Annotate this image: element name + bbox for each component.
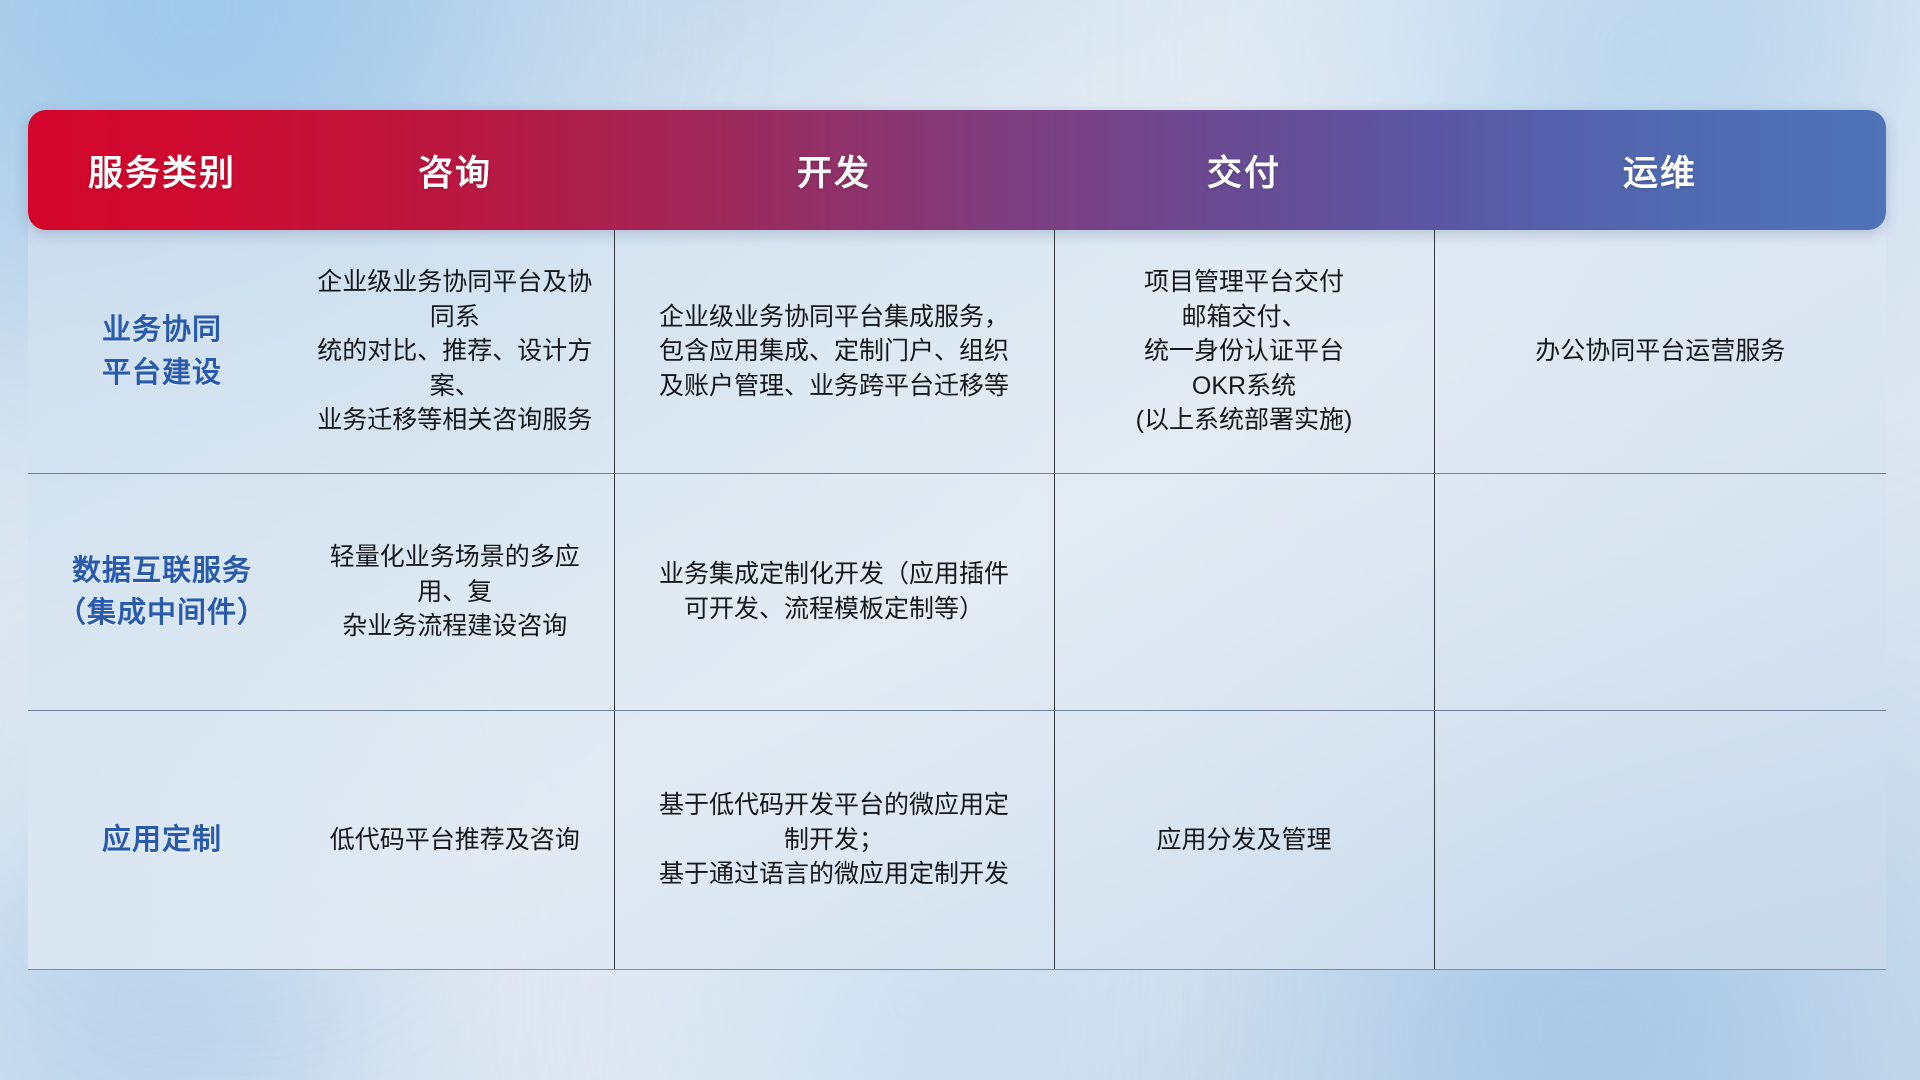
cell-operations: 办公协同平台运营服务 xyxy=(1434,230,1886,474)
cell-development: 业务集成定制化开发（应用插件 可开发、流程模板定制等） xyxy=(614,474,1054,711)
cell-text: 项目管理平台交付 邮箱交付、 统一身份认证平台 OKR系统 (以上系统部署实施) xyxy=(1069,265,1420,438)
cell-text: 企业级业务协同平台集成服务， 包含应用集成、定制门户、组织 及账户管理、业务跨平… xyxy=(629,300,1040,404)
cell-text: 轻量化业务场景的多应用、复 杂业务流程建设咨询 xyxy=(310,540,600,644)
cell-text: 企业级业务协同平台及协同系 统的对比、推荐、设计方案、 业务迁移等相关咨询服务 xyxy=(310,265,600,438)
column-header-service-category[interactable]: 服务类别 xyxy=(28,110,296,230)
cell-development: 基于低代码开发平台的微应用定 制开发； 基于通过语言的微应用定制开发 xyxy=(614,710,1054,969)
cell-consulting: 轻量化业务场景的多应用、复 杂业务流程建设咨询 xyxy=(296,474,614,711)
column-header-label: 交付 xyxy=(1207,145,1281,196)
row-category-label: 数据互联服务 （集成中间件） xyxy=(28,474,296,711)
table-row[interactable]: 应用定制 低代码平台推荐及咨询 基于低代码开发平台的微应用定 制开发； 基于通过… xyxy=(28,710,1886,969)
table-row[interactable]: 业务协同 平台建设 企业级业务协同平台及协同系 统的对比、推荐、设计方案、 业务… xyxy=(28,230,1886,474)
column-header-label: 咨询 xyxy=(418,145,492,196)
cell-consulting: 低代码平台推荐及咨询 xyxy=(296,710,614,969)
cell-text: 应用分发及管理 xyxy=(1069,823,1420,858)
column-header-operations[interactable]: 运维 xyxy=(1434,110,1886,230)
cell-text: 基于低代码开发平台的微应用定 制开发； 基于通过语言的微应用定制开发 xyxy=(629,788,1040,892)
cell-text: 数据互联服务 （集成中间件） xyxy=(42,550,282,634)
cell-delivery: 项目管理平台交付 邮箱交付、 统一身份认证平台 OKR系统 (以上系统部署实施) xyxy=(1054,230,1434,474)
cell-delivery: 应用分发及管理 xyxy=(1054,710,1434,969)
table-row[interactable]: 数据互联服务 （集成中间件） 轻量化业务场景的多应用、复 杂业务流程建设咨询 业… xyxy=(28,474,1886,711)
cell-operations xyxy=(1434,710,1886,969)
cell-text: 办公协同平台运营服务 xyxy=(1449,334,1873,369)
column-header-development[interactable]: 开发 xyxy=(614,110,1054,230)
cell-development: 企业级业务协同平台集成服务， 包含应用集成、定制门户、组织 及账户管理、业务跨平… xyxy=(614,230,1054,474)
column-header-delivery[interactable]: 交付 xyxy=(1054,110,1434,230)
table-body: 业务协同 平台建设 企业级业务协同平台及协同系 统的对比、推荐、设计方案、 业务… xyxy=(28,230,1886,970)
row-category-label: 应用定制 xyxy=(28,710,296,969)
column-header-label: 开发 xyxy=(797,145,871,196)
cell-delivery xyxy=(1054,474,1434,711)
cell-text: 业务集成定制化开发（应用插件 可开发、流程模板定制等） xyxy=(629,557,1040,626)
cell-text: 应用定制 xyxy=(42,819,282,861)
cell-consulting: 企业级业务协同平台及协同系 统的对比、推荐、设计方案、 业务迁移等相关咨询服务 xyxy=(296,230,614,474)
cell-text: 低代码平台推荐及咨询 xyxy=(310,823,600,858)
column-header-label: 服务类别 xyxy=(88,145,236,196)
service-matrix-table: 服务类别 咨询 开发 交付 运维 业务协同 平台建设 企业级业务协同平台及协同系… xyxy=(28,110,1886,970)
cell-text: 业务协同 平台建设 xyxy=(42,309,282,393)
row-category-label: 业务协同 平台建设 xyxy=(28,230,296,474)
cell-operations xyxy=(1434,474,1886,711)
column-header-label: 运维 xyxy=(1623,145,1697,196)
column-header-consulting[interactable]: 咨询 xyxy=(296,110,614,230)
